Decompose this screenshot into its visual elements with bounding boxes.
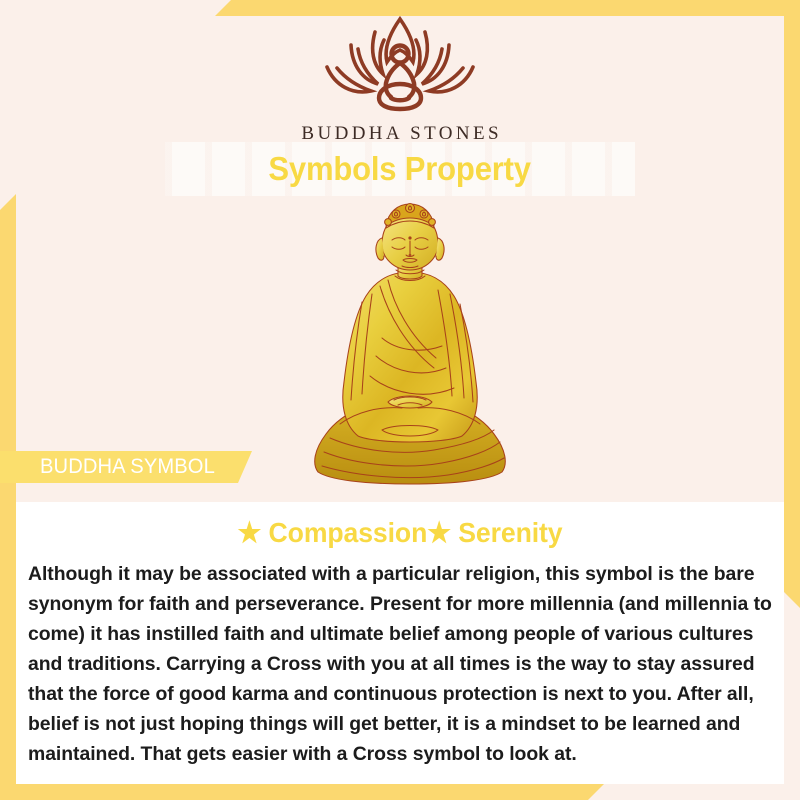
section-tag-buddha-symbol: BUDDHA SYMBOL bbox=[0, 451, 252, 483]
decorative-band-left bbox=[0, 194, 16, 800]
content-paragraph: Although it may be associated with a par… bbox=[28, 559, 772, 769]
buddha-statue-illustration bbox=[310, 198, 510, 490]
poster-canvas: BUDDHA STONES Symbols Property bbox=[0, 0, 800, 800]
section-tag-label: BUDDHA SYMBOL bbox=[40, 455, 215, 479]
content-panel: ★ Compassion★ Serenity Although it may b… bbox=[16, 502, 784, 784]
lotus-meditation-figure-icon bbox=[0, 12, 800, 121]
page-title: Symbols Property bbox=[269, 150, 531, 188]
decorative-band-bottom bbox=[0, 784, 604, 800]
brand-logo-block: BUDDHA STONES bbox=[0, 12, 800, 145]
content-headline: ★ Compassion★ Serenity bbox=[35, 516, 765, 549]
title-banner: Symbols Property bbox=[165, 142, 635, 196]
